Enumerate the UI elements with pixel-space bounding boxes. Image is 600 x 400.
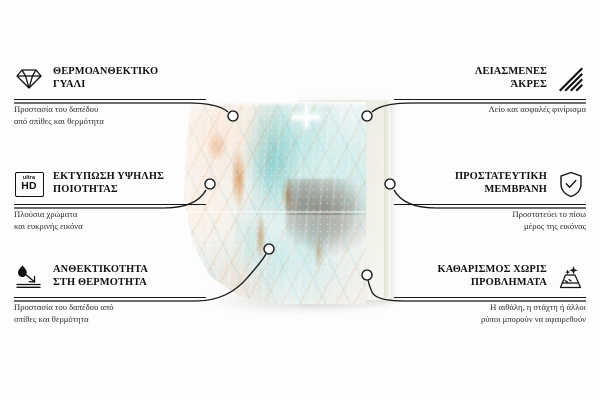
ultra-hd-icon-main-text: HD: [21, 182, 36, 192]
feature-title: ΕΚΤΥΠΩΣΗ ΥΨΗΛΗΣ ΠΟΙΟΤΗΤΑΣ: [53, 171, 164, 196]
feature-header: ΑΝΘΕΚΤΙΚΟΤΗΤΑ ΣΤΗ ΘΕΡΜΟΤΗΤΑ: [14, 260, 206, 294]
feature-description: Προστασία του δαπέδου από σπίθες και θερ…: [14, 302, 206, 326]
feature-divider: [14, 297, 206, 298]
product-illustration: [176, 96, 424, 316]
feature-divider: [394, 99, 586, 100]
feature-description: Προστασία του δαπέδου από σπίθες και θερ…: [14, 104, 206, 128]
feature-title: ΚΑΘΑΡΙΣΜΟΣ ΧΩΡΙΣ ΠΡΟΒΛΗΜΑΤΑ: [437, 264, 547, 289]
feature-header: ultra HD ΕΚΤΥΠΩΣΗ ΥΨΗΛΗΣ ΠΟΙΟΤΗΤΑΣ: [14, 167, 206, 201]
feature-header: ΘΕΡΜΟΑΝΘΕΚΤΙΚΟ ΓΥΑΛΙ: [14, 62, 206, 96]
infographic-canvas: ΘΕΡΜΟΑΝΘΕΚΤΙΚΟ ΓΥΑΛΙ Προστασία του δαπέδ…: [0, 0, 600, 400]
feature-protective-membrane[interactable]: ΠΡΟΣΤΑΤΕΥΤΙΚΗ ΜΕΜΒΡΑΝΗ Προστατεύει το πί…: [394, 167, 586, 233]
feature-header: ΚΑΘΑΡΙΣΜΟΣ ΧΩΡΙΣ ΠΡΟΒΛΗΜΑΤΑ: [394, 260, 586, 294]
feature-divider: [14, 99, 206, 100]
rear-glass-panel-edge: [384, 102, 391, 298]
feature-heat-resistant-glass[interactable]: ΘΕΡΜΟΑΝΘΕΚΤΙΚΟ ΓΥΑΛΙ Προστασία του δαπέδ…: [14, 62, 206, 128]
feature-title: ΛΕΙΑΣΜΕΝΕΣ ΆΚΡΕΣ: [475, 66, 547, 91]
feature-description: Πλούσια χρώματα και ευκρινής εικόνα: [14, 209, 206, 233]
feature-header: ΛΕΙΑΣΜΕΝΕΣ ΆΚΡΕΣ: [394, 62, 586, 96]
diamond-icon: [14, 64, 44, 94]
feature-divider: [394, 297, 586, 298]
feature-easy-cleaning[interactable]: ΚΑΘΑΡΙΣΜΟΣ ΧΩΡΙΣ ΠΡΟΒΛΗΜΑΤΑ Η αιθάλη, η …: [394, 260, 586, 326]
feature-polished-edges[interactable]: ΛΕΙΑΣΜΕΝΕΣ ΆΚΡΕΣ Λείο και ασφαλές φινίρι…: [394, 62, 586, 116]
feature-header: ΠΡΟΣΤΑΤΕΥΤΙΚΗ ΜΕΜΒΡΑΝΗ: [394, 167, 586, 201]
sparkle-clean-icon: [556, 262, 586, 292]
printed-glass-panel: [184, 102, 366, 304]
shield-check-icon: [556, 169, 586, 199]
feature-divider: [14, 204, 206, 205]
diagonal-stripes-icon: [556, 64, 586, 94]
feature-title: ΘΕΡΜΟΑΝΘΕΚΤΙΚΟ ΓΥΑΛΙ: [53, 66, 158, 91]
flame-arrow-icon: [14, 262, 44, 292]
feature-description: Προστατεύει το πίσω μέρος της εικόνας: [394, 209, 586, 233]
glass-top-edge: [184, 102, 366, 106]
feature-description: Λείο και ασφαλές φινίρισμα: [394, 104, 586, 116]
feature-heat-durability[interactable]: ΑΝΘΕΚΤΙΚΟΤΗΤΑ ΣΤΗ ΘΕΡΜΟΤΗΤΑ Προστασία το…: [14, 260, 206, 326]
glass-reflection-primary: [184, 102, 366, 304]
feature-high-quality-print[interactable]: ultra HD ΕΚΤΥΠΩΣΗ ΥΨΗΛΗΣ ΠΟΙΟΤΗΤΑΣ Πλούσ…: [14, 167, 206, 233]
feature-divider: [394, 204, 586, 205]
ultra-hd-icon: ultra HD: [14, 169, 44, 199]
feature-title: ΠΡΟΣΤΑΤΕΥΤΙΚΗ ΜΕΜΒΡΑΝΗ: [455, 171, 547, 196]
glass-reflection-secondary: [239, 215, 366, 268]
feature-title: ΑΝΘΕΚΤΙΚΟΤΗΤΑ ΣΤΗ ΘΕΡΜΟΤΗΤΑ: [53, 264, 148, 289]
glass-reflection-band: [184, 211, 366, 213]
feature-description: Η αιθάλη, η στάχτη ή άλλοι ρύποι μπορούν…: [394, 302, 586, 326]
